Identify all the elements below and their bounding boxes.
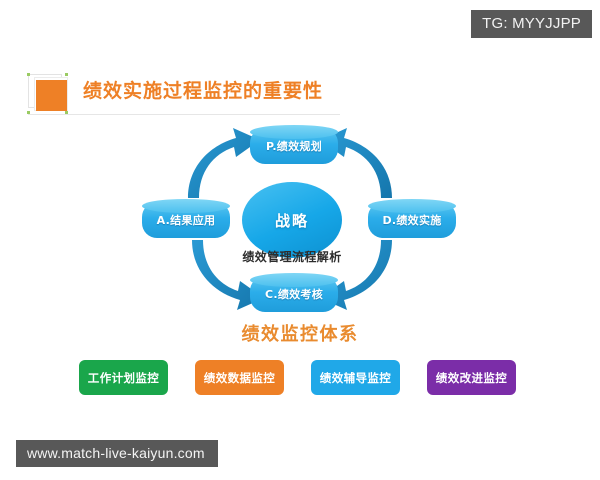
site-url-watermark: www.match-live-kaiyun.com <box>16 440 218 467</box>
orange-square-logo-icon <box>28 74 70 116</box>
pdca-cycle-diagram: P.绩效规划 D.绩效实施 C.绩效考核 A.结果应用 战略 绩效管理流程解析 <box>140 120 460 320</box>
logo-orange-square <box>36 80 67 111</box>
slide-canvas: TG: MYYJJPP 绩效实施过程监控的重要性 <box>0 0 600 480</box>
monitoring-box-row: 工作计划监控 绩效数据监控 绩效辅导监控 绩效改进监控 <box>0 360 600 400</box>
node-do-shape <box>368 199 456 238</box>
section-heading: 绩效监控体系 <box>0 320 600 346</box>
box-performance-improvement-monitoring[interactable]: 绩效改进监控 <box>427 360 516 395</box>
page-title: 绩效实施过程监控的重要性 <box>83 76 323 103</box>
center-strategy-label: 战略 <box>242 210 342 231</box>
box-performance-data-monitoring[interactable]: 绩效数据监控 <box>195 360 284 395</box>
diagram-caption: 绩效管理流程解析 <box>232 248 352 265</box>
node-act-shape <box>142 199 230 238</box>
node-check-shape <box>250 273 338 312</box>
box-work-plan-monitoring[interactable]: 工作计划监控 <box>79 360 168 395</box>
telegram-watermark-badge: TG: MYYJJPP <box>471 10 592 38</box>
title-divider <box>28 114 340 115</box>
box-performance-coaching-monitoring[interactable]: 绩效辅导监控 <box>311 360 400 395</box>
selection-handle-icon <box>65 73 68 76</box>
node-plan-shape <box>250 125 338 164</box>
selection-handle-icon <box>27 73 30 76</box>
